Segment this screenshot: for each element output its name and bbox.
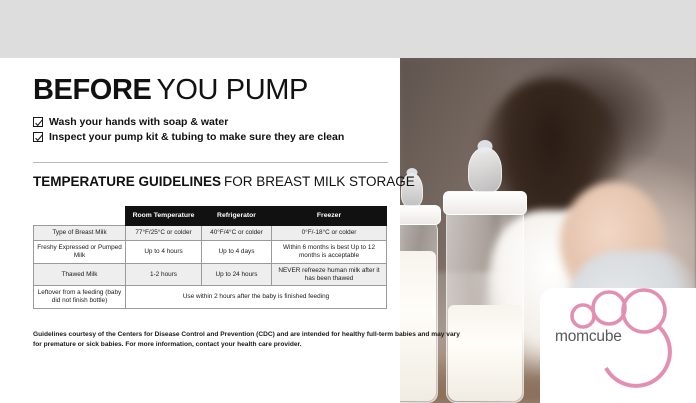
page-title: BEFOREYOU PUMP [33, 76, 308, 105]
checklist-item-label: Inspect your pump kit & tubing to make s… [49, 131, 344, 143]
checklist-item: Wash your hands with soap & water [33, 116, 344, 128]
momcube-wordmark: momcube [555, 328, 622, 346]
bottle-nipple-tip [478, 140, 493, 153]
section-heading-light: FOR BREAST MILK STORAGE [224, 174, 415, 189]
table-row-leftover: Leftover from a feeding (baby did not fi… [34, 286, 387, 309]
table-header-row: Room Temperature Refrigerator Freezer [34, 207, 387, 226]
column-header-refrigerator: Refrigerator [202, 207, 272, 226]
momcube-logo[interactable]: momcube [540, 288, 696, 403]
section-heading: TEMPERATURE GUIDELINESFOR BREAST MILK ST… [33, 175, 415, 189]
checklist-item: Inspect your pump kit & tubing to make s… [33, 131, 344, 143]
checklist-item-label: Wash your hands with soap & water [49, 116, 228, 128]
table-row: Freshy Expressed or Pumped Milk Up to 4 … [34, 241, 387, 264]
section-heading-strong: TEMPERATURE GUIDELINES [33, 174, 221, 189]
column-header-room-temperature: Room Temperature [126, 207, 202, 226]
bottle-collar [400, 205, 441, 225]
cell-refrigerator: Up to 24 hours [202, 263, 272, 286]
cell-room-temperature: 1-2 hours [126, 263, 202, 286]
content-column: BEFOREYOU PUMP Wash your hands with soap… [0, 58, 400, 403]
top-gray-band [0, 0, 696, 58]
bottle-nipple [468, 147, 502, 193]
cell-room-temperature: Up to 4 hours [126, 241, 202, 264]
bottle-milk [400, 251, 436, 401]
bottle-milk [448, 305, 522, 401]
checkbox-checked-icon [33, 117, 43, 127]
cell-leftover-note: Use within 2 hours after the baby is fin… [126, 286, 387, 309]
column-header-freezer: Freezer [272, 207, 387, 226]
table-row: Thawed Milk 1-2 hours Up to 24 hours NEV… [34, 263, 387, 286]
cell-refrigerator: Up to 4 days [202, 241, 272, 264]
cell-milk-type: Freshy Expressed or Pumped Milk [34, 241, 126, 264]
footnote-text: Guidelines courtesy of the Centers for D… [33, 330, 465, 350]
row-header-type-of-breast-milk: Type of Breast Milk [34, 226, 126, 241]
cell-freezer-value: 0°F/-18°C or colder [272, 226, 387, 241]
checkbox-checked-icon [33, 132, 43, 142]
cell-freezer: NEVER refreeze human milk after it has b… [272, 263, 387, 286]
page-title-light: YOU PUMP [156, 74, 308, 106]
table-row-temperatures: Type of Breast Milk 77°F/25°C or colder … [34, 226, 387, 241]
table-corner-cell [34, 207, 126, 226]
cell-freezer: Within 6 months is best Up to 12 months … [272, 241, 387, 264]
baby-bottle-front [446, 133, 524, 403]
storage-guidelines-table: Room Temperature Refrigerator Freezer Ty… [33, 206, 387, 309]
cell-room-temperature-value: 77°F/25°C or colder [126, 226, 202, 241]
bottle-collar [443, 191, 527, 215]
cell-milk-type-leftover: Leftover from a feeding (baby did not fi… [34, 286, 126, 309]
infographic-page: BEFOREYOU PUMP Wash your hands with soap… [0, 0, 696, 403]
baby-bottle-left [400, 173, 438, 403]
cell-milk-type: Thawed Milk [34, 263, 126, 286]
page-title-strong: BEFORE [33, 74, 151, 106]
section-divider [33, 162, 388, 163]
cell-refrigerator-value: 40°F/4°C or colder [202, 226, 272, 241]
pre-pump-checklist: Wash your hands with soap & water Inspec… [33, 116, 344, 146]
